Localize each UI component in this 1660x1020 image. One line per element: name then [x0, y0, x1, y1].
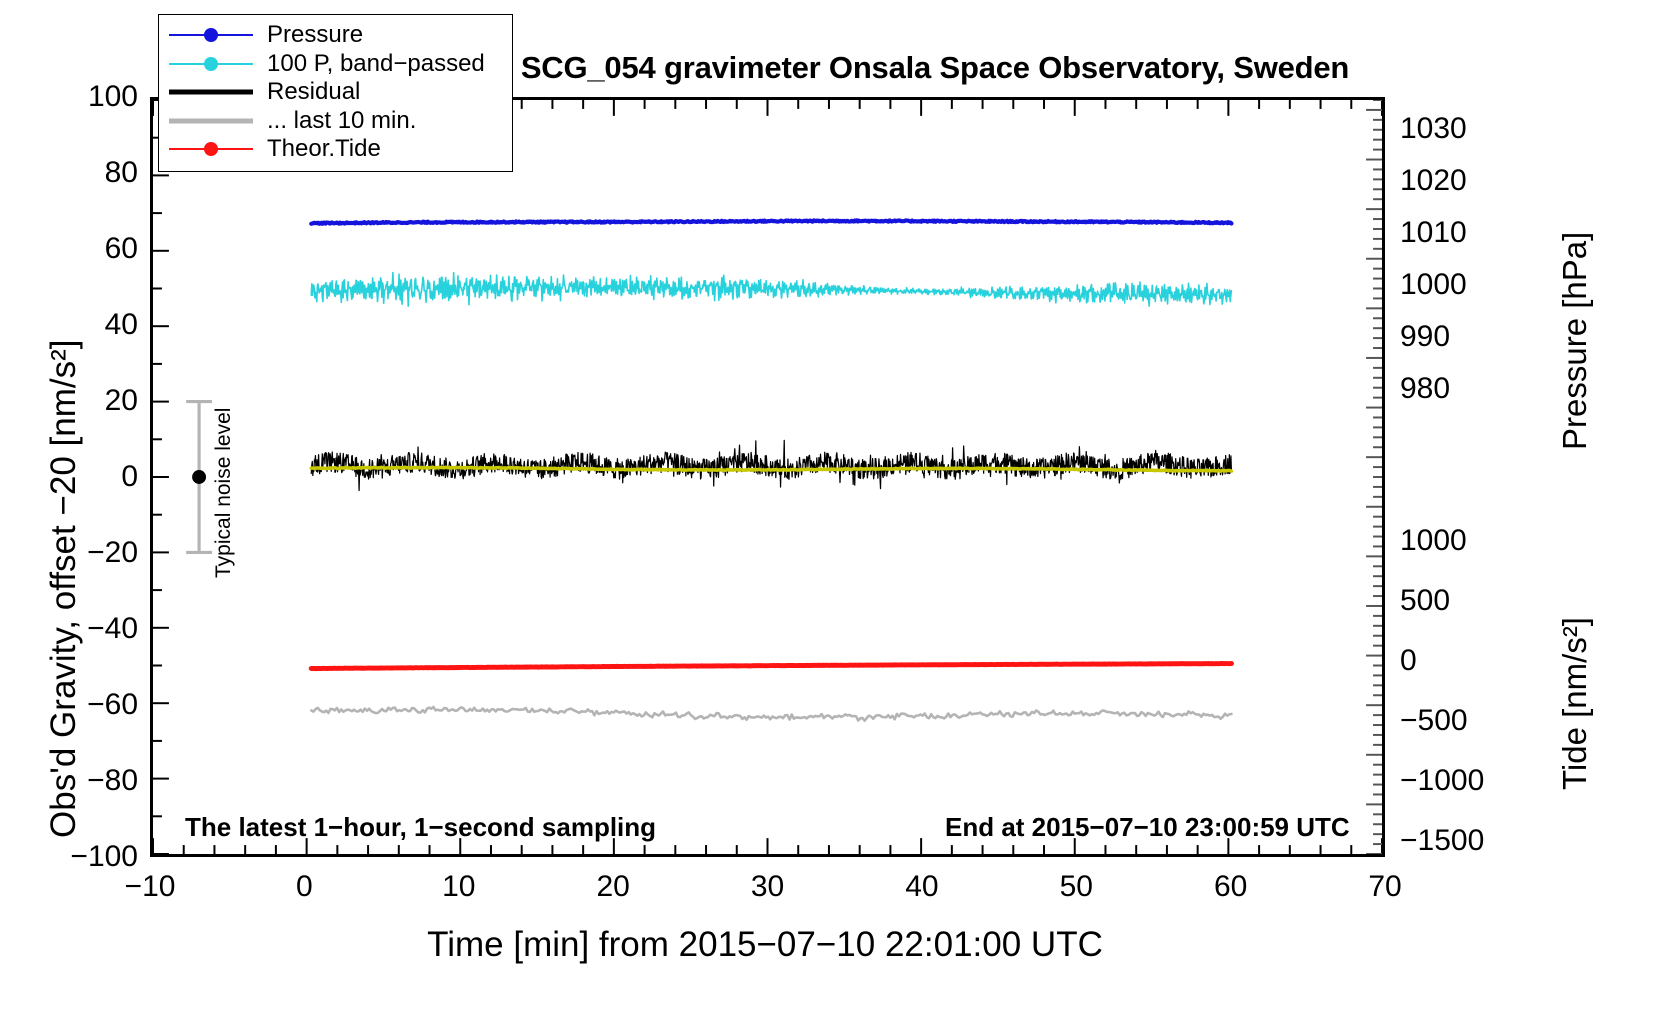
- plot-canvas: [153, 100, 1382, 854]
- y-axis-tick-label: −100: [70, 842, 138, 872]
- plot-area: [150, 97, 1385, 857]
- series-band-passed: [311, 273, 1231, 307]
- noise-bar: [186, 402, 212, 553]
- y-axis-title: Obs'd Gravity, offset −20 [nm/s²]: [44, 340, 84, 839]
- x-axis-tick-label: 30: [751, 872, 784, 902]
- legend-label: 100 P, band−passed: [255, 50, 485, 78]
- x-axis-tick-label: 60: [1214, 872, 1247, 902]
- legend-swatch-icon: [167, 108, 255, 134]
- legend-label: Pressure: [255, 21, 363, 49]
- x-axis-tick-label: 70: [1368, 872, 1401, 902]
- y-axis-tick-label: 80: [105, 158, 138, 188]
- sampling-note: The latest 1−hour, 1−second sampling: [185, 812, 656, 843]
- tide-tick-label: −1000: [1400, 766, 1484, 796]
- pressure-tick-label: 990: [1400, 322, 1450, 352]
- y-axis-tick-label: 100: [88, 82, 138, 112]
- x-axis-tick-label: 50: [1060, 872, 1093, 902]
- series-theor-tide: [311, 663, 1231, 668]
- noise-bar-center-dot: [192, 470, 206, 484]
- pressure-axis-title: Pressure [hPa]: [1556, 232, 1594, 450]
- y-axis-tick-label: −20: [87, 538, 138, 568]
- legend-label: Theor.Tide: [255, 135, 381, 163]
- series-last-10-min: [311, 707, 1231, 721]
- legend[interactable]: Pressure 100 P, band−passed Residual ...…: [158, 14, 513, 172]
- y-axis-tick-label: −40: [87, 614, 138, 644]
- legend-item-residual[interactable]: Residual: [167, 78, 502, 107]
- y-axis-tick-label: 60: [105, 234, 138, 264]
- legend-label: ... last 10 min.: [255, 107, 416, 135]
- pressure-tick-label: 1030: [1400, 114, 1467, 144]
- legend-item-theor-tide[interactable]: Theor.Tide: [167, 135, 502, 164]
- y-axis-tick-label: 20: [105, 386, 138, 416]
- pressure-tick-label: 1010: [1400, 218, 1467, 248]
- x-axis-tick-label: 20: [596, 872, 629, 902]
- data-series-group: [311, 220, 1231, 720]
- x-axis-tick-label: −10: [125, 872, 176, 902]
- legend-swatch-icon: [167, 51, 255, 77]
- x-axis-tick-label: 40: [905, 872, 938, 902]
- y-axis-tick-label: −60: [87, 690, 138, 720]
- pressure-tick-label: 1020: [1400, 166, 1467, 196]
- x-axis-tick-label: 0: [296, 872, 313, 902]
- legend-item-last-10-min[interactable]: ... last 10 min.: [167, 107, 502, 136]
- legend-label: Residual: [255, 78, 360, 106]
- axis-ticks: [153, 100, 1382, 854]
- x-axis-tick-label: 10: [442, 872, 475, 902]
- tide-tick-label: −500: [1400, 706, 1468, 736]
- legend-item-band-passed[interactable]: 100 P, band−passed: [167, 50, 502, 79]
- y-axis-tick-label: 40: [105, 310, 138, 340]
- y-axis-pressure-tick-labels: 1030102010101000990980: [1400, 97, 1520, 497]
- tide-tick-label: 500: [1400, 586, 1450, 616]
- tide-tick-label: −1500: [1400, 826, 1484, 856]
- y-axis-tick-label: 0: [121, 462, 138, 492]
- pressure-tick-label: 1000: [1400, 270, 1467, 300]
- y-axis-tick-label: −80: [87, 766, 138, 796]
- page-title: SCG_054 gravimeter Onsala Space Observat…: [455, 50, 1415, 86]
- series-residual: [311, 440, 1231, 490]
- legend-swatch-icon: [167, 136, 255, 162]
- x-axis-tick-labels: −10010203040506070: [150, 872, 1385, 912]
- pressure-tick-label: 980: [1400, 374, 1450, 404]
- series-pressure: [311, 220, 1231, 223]
- tide-tick-label: 0: [1400, 646, 1417, 676]
- y-axis-tide-tick-labels: 10005000−500−1000−1500: [1400, 497, 1520, 857]
- x-axis-title: Time [min] from 2015−07−10 22:01:00 UTC: [0, 925, 1530, 965]
- legend-item-pressure[interactable]: Pressure: [167, 21, 502, 50]
- noise-level-label: Typical noise level: [212, 408, 236, 578]
- tide-axis-title: Tide [nm/s²]: [1556, 617, 1594, 790]
- legend-swatch-icon: [167, 22, 255, 48]
- legend-swatch-icon: [167, 79, 255, 105]
- end-time-note: End at 2015−07−10 23:00:59 UTC: [945, 812, 1350, 843]
- tide-tick-label: 1000: [1400, 526, 1467, 556]
